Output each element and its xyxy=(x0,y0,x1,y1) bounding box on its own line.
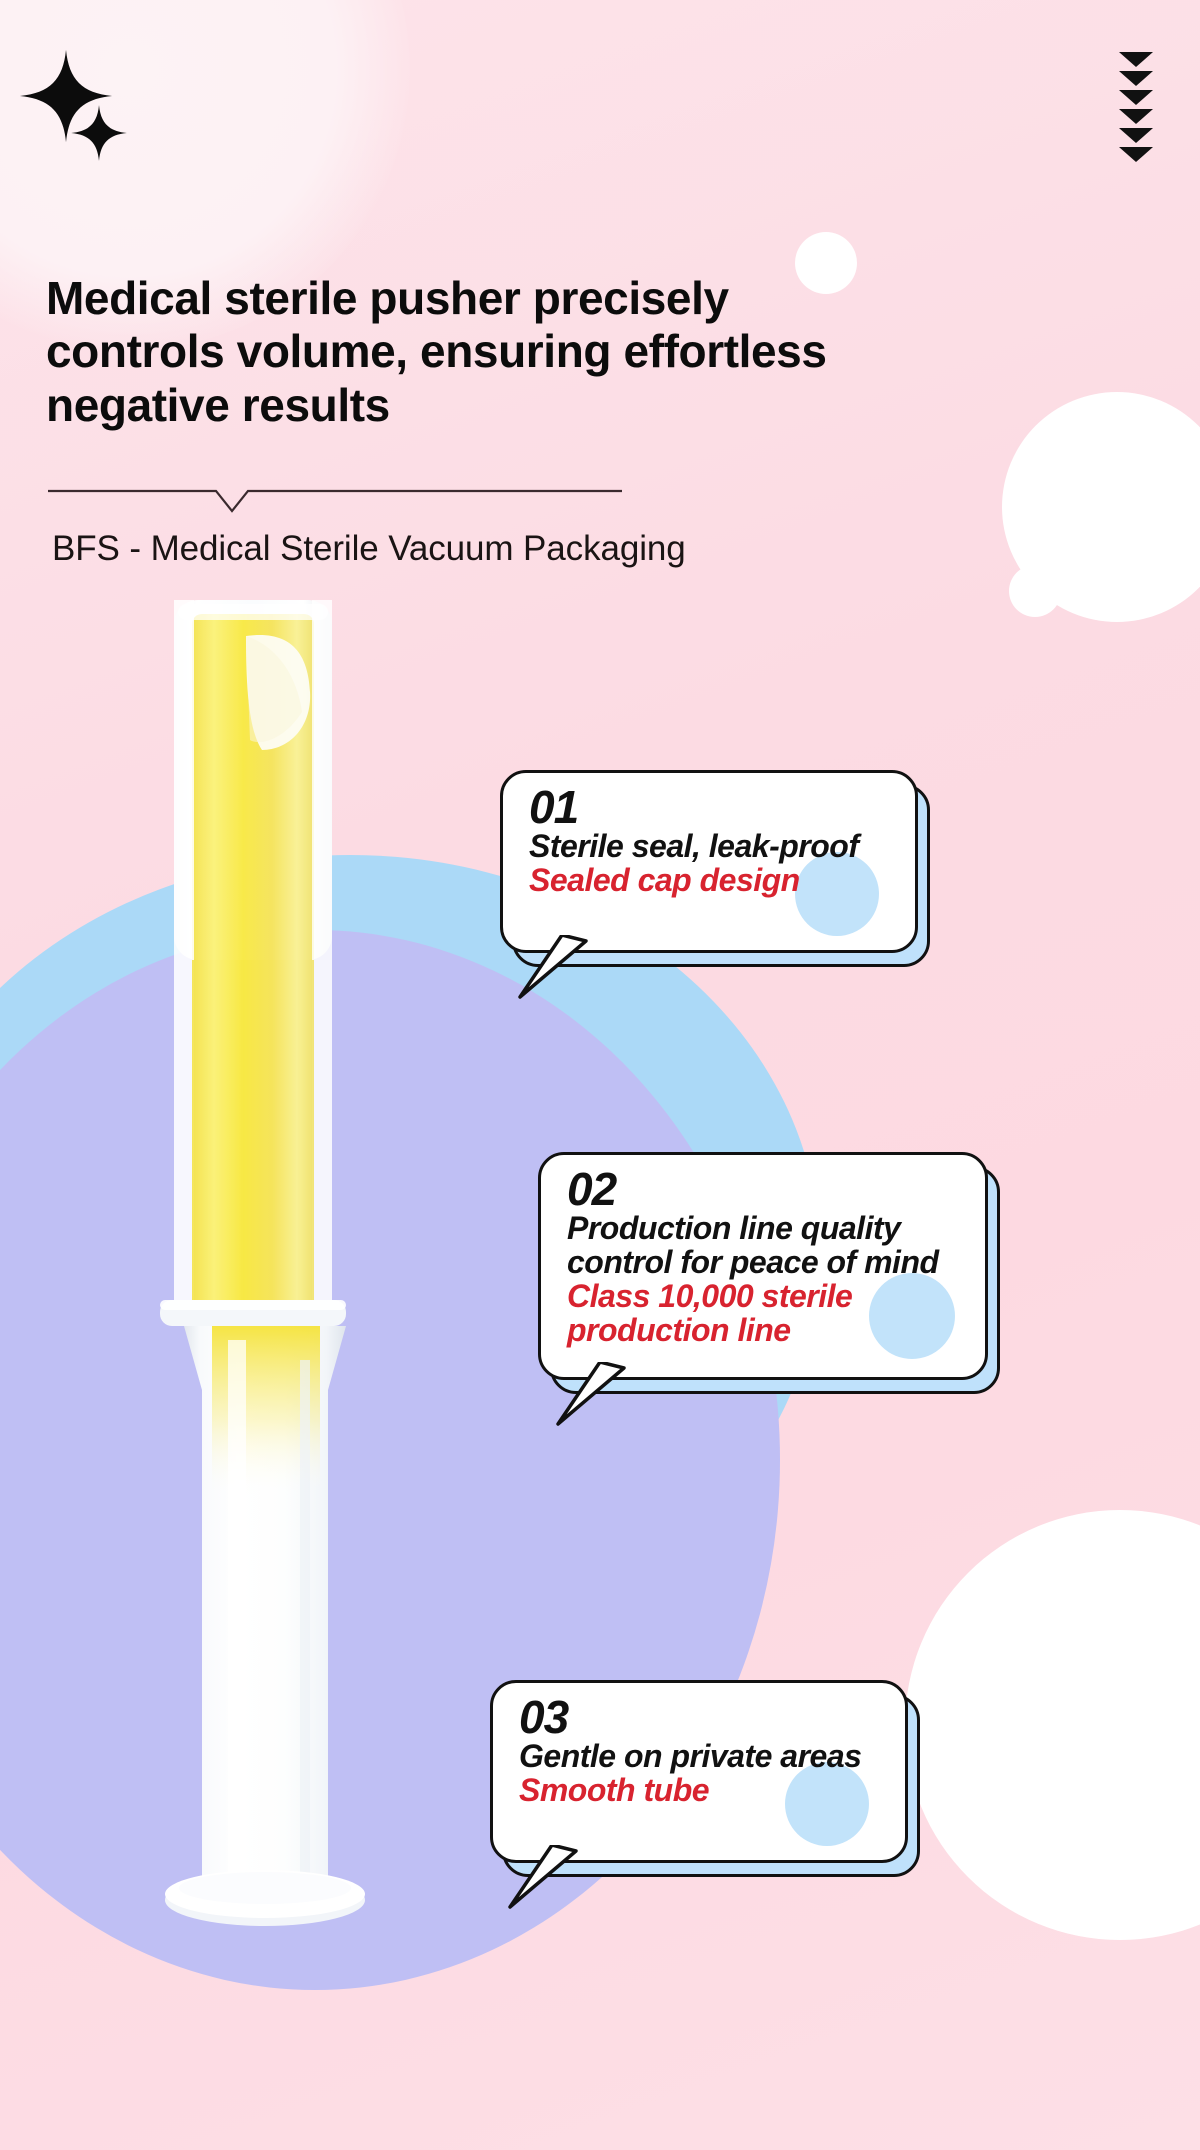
chevron-down-icon xyxy=(1119,147,1153,162)
card-headline: Gentle on private areas xyxy=(519,1740,879,1774)
card-body[interactable]: 03 Gentle on private areas Smooth tube xyxy=(490,1680,908,1863)
card-accent-text: Smooth tube xyxy=(519,1774,879,1808)
sparkle-icon xyxy=(18,48,114,144)
sparkle-icon xyxy=(70,104,128,162)
chevron-down-icon xyxy=(1119,128,1153,143)
chevron-down-icon xyxy=(1119,90,1153,105)
promo-poster: Medical sterile pusher precisely control… xyxy=(0,0,1200,2150)
chevron-down-icon xyxy=(1119,52,1153,67)
card-number: 01 xyxy=(529,785,889,830)
card-accent-text: Class 10,000 sterile production line xyxy=(567,1280,959,1348)
card-tail xyxy=(516,935,596,1005)
card-body[interactable]: 02 Production line quality control for p… xyxy=(538,1152,988,1380)
decor-circle-large-right xyxy=(1002,392,1200,622)
callout-card-01[interactable]: 01 Sterile seal, leak-proof Sealed cap d… xyxy=(500,770,918,953)
chevron-down-icon xyxy=(1119,109,1153,124)
divider xyxy=(48,489,622,515)
chevron-down-icon xyxy=(1119,71,1153,86)
page-title: Medical sterile pusher precisely control… xyxy=(46,272,836,432)
card-headline: Sterile seal, leak-proof xyxy=(529,830,889,864)
product-image-applicator xyxy=(150,600,380,1960)
decor-circle-small-right xyxy=(1009,565,1061,617)
card-tail xyxy=(506,1845,586,1915)
card-accent-text: Sealed cap design xyxy=(529,864,889,898)
decor-circle-large-bottom-right xyxy=(905,1510,1200,1940)
callout-card-02[interactable]: 02 Production line quality control for p… xyxy=(538,1152,988,1380)
page-subtitle: BFS - Medical Sterile Vacuum Packaging xyxy=(52,529,686,569)
card-tail xyxy=(554,1362,634,1432)
card-headline: Production line quality control for peac… xyxy=(567,1212,959,1280)
card-body[interactable]: 01 Sterile seal, leak-proof Sealed cap d… xyxy=(500,770,918,953)
callout-card-03[interactable]: 03 Gentle on private areas Smooth tube xyxy=(490,1680,908,1863)
card-number: 03 xyxy=(519,1695,879,1740)
card-number: 02 xyxy=(567,1167,959,1212)
chevron-stack xyxy=(1119,52,1153,162)
